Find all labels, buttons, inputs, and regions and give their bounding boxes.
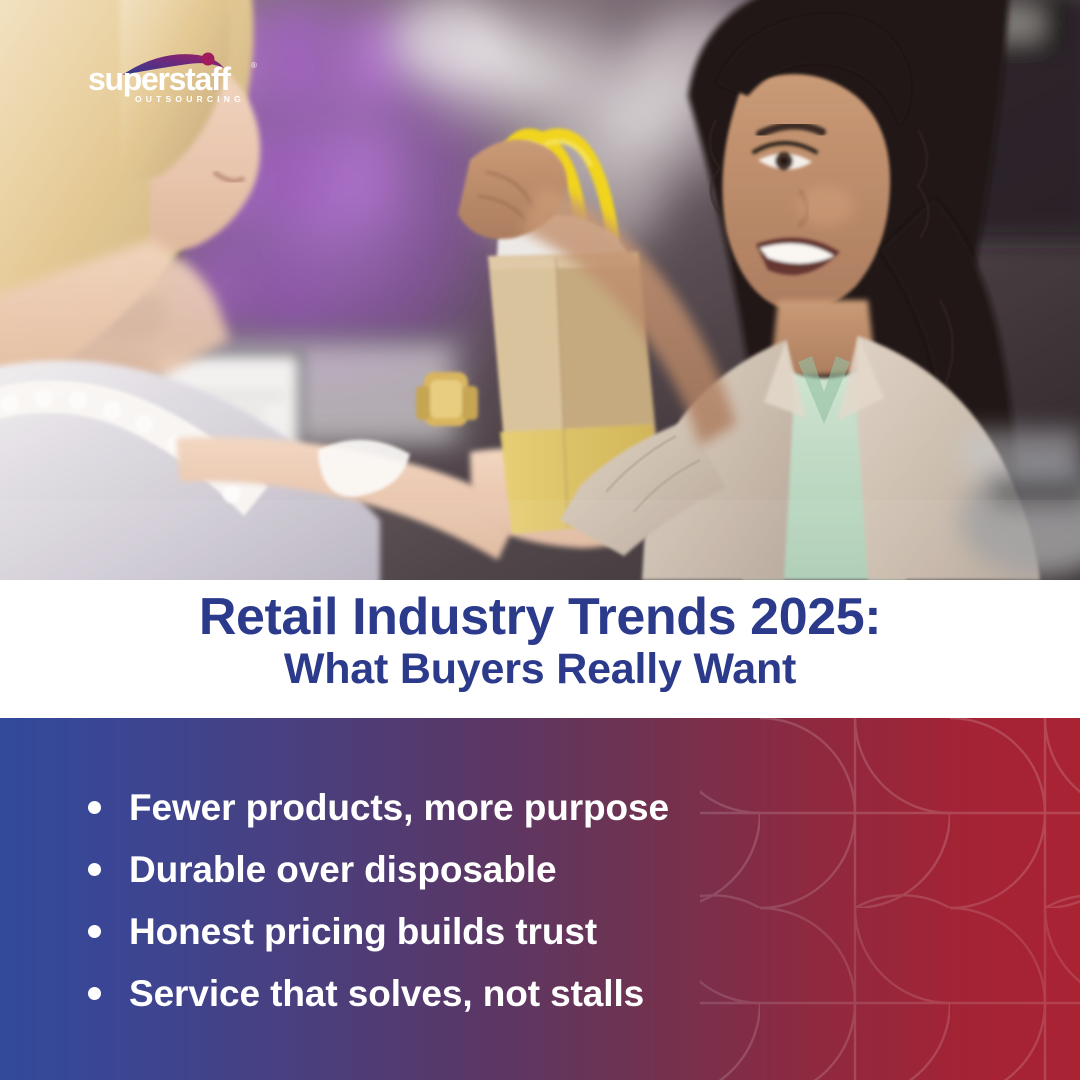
list-item: Durable over disposable xyxy=(88,844,556,894)
social-post-graphic: superstaff ® OUTSOURCING Retail Industry… xyxy=(0,0,1080,1080)
bullet-dot-icon xyxy=(88,925,101,938)
page-title-line-1: Retail Industry Trends 2025: xyxy=(199,589,881,645)
list-item: Service that solves, not stalls xyxy=(88,968,644,1018)
list-item: Honest pricing builds trust xyxy=(88,906,597,956)
list-item-label: Fewer products, more purpose xyxy=(129,789,669,826)
decorative-geometric-pattern xyxy=(0,718,1080,1080)
bullet-dot-icon xyxy=(88,863,101,876)
key-points-panel: Fewer products, more purpose Durable ove… xyxy=(0,718,1080,1080)
page-title-line-2: What Buyers Really Want xyxy=(284,645,796,693)
logo-wordmark: superstaff xyxy=(88,61,231,97)
bullet-dot-icon xyxy=(88,801,101,814)
bullet-dot-icon xyxy=(88,987,101,1000)
list-item-label: Durable over disposable xyxy=(129,851,556,888)
list-item: Fewer products, more purpose xyxy=(88,782,669,832)
logo-tagline: OUTSOURCING xyxy=(135,94,245,104)
title-band: Retail Industry Trends 2025: What Buyers… xyxy=(0,580,1080,718)
logo-registered-icon: ® xyxy=(251,61,257,70)
list-item-label: Honest pricing builds trust xyxy=(129,913,597,950)
list-item-label: Service that solves, not stalls xyxy=(129,975,644,1012)
superstaff-logo: superstaff ® OUTSOURCING xyxy=(88,52,273,108)
